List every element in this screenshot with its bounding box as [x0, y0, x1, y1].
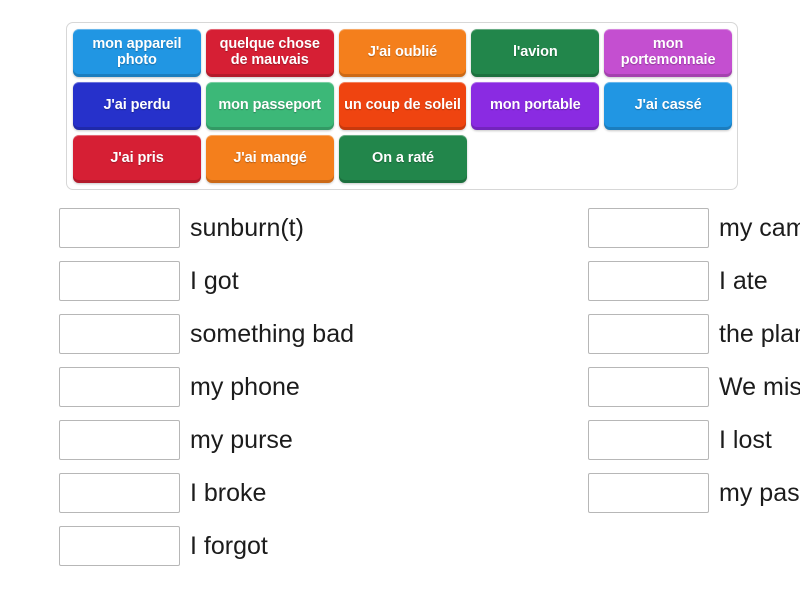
answer-label: We missed [719, 375, 800, 400]
tile-label: mon portable [490, 98, 581, 114]
tile-label: J'ai pris [110, 151, 163, 167]
drop-slot[interactable] [588, 261, 709, 301]
answer-column-left: sunburn(t) I got something bad my phone … [59, 208, 354, 566]
drop-slot[interactable] [59, 473, 180, 513]
drop-slot[interactable] [59, 526, 180, 566]
answer-row: my purse [59, 420, 354, 460]
tile-label: J'ai oublié [368, 45, 437, 61]
tile-row-1: mon appareil photo quelque chose de mauv… [73, 29, 732, 77]
answer-row: sunburn(t) [59, 208, 354, 248]
draggable-tile-jai-pris[interactable]: J'ai pris [73, 135, 201, 183]
tile-tray: mon appareil photo quelque chose de mauv… [66, 22, 738, 190]
tile-rows: mon appareil photo quelque chose de mauv… [73, 29, 732, 183]
drop-slot[interactable] [588, 208, 709, 248]
answer-column-right: my camera I ate the plane We missed I lo… [588, 208, 800, 566]
answer-label: sunburn(t) [190, 216, 304, 241]
drop-slot[interactable] [588, 314, 709, 354]
drop-slot[interactable] [588, 473, 709, 513]
tile-label: quelque chose de mauvais [210, 37, 330, 68]
tile-label: mon appareil photo [77, 37, 197, 68]
tile-label: un coup de soleil [344, 98, 461, 114]
draggable-tile-mon-appareil-photo[interactable]: mon appareil photo [73, 29, 201, 77]
answer-row: We missed [588, 367, 800, 407]
draggable-tile-mon-portemonnaie[interactable]: mon portemonnaie [604, 29, 732, 77]
answer-row: I broke [59, 473, 354, 513]
draggable-tile-on-a-rate[interactable]: On a raté [339, 135, 467, 183]
tile-label: J'ai cassé [635, 98, 702, 114]
draggable-tile-lavion[interactable]: l'avion [471, 29, 599, 77]
answer-row: something bad [59, 314, 354, 354]
answer-label: I got [190, 269, 239, 294]
answer-row: the plane [588, 314, 800, 354]
tile-label: On a raté [372, 151, 434, 167]
answer-row: I lost [588, 420, 800, 460]
drop-slot[interactable] [588, 420, 709, 460]
answer-label: I lost [719, 428, 772, 453]
answer-label: my passport [719, 481, 800, 506]
tile-row-2: J'ai perdu mon passeport un coup de sole… [73, 82, 732, 130]
answer-row: my phone [59, 367, 354, 407]
answer-row: my camera [588, 208, 800, 248]
draggable-tile-jai-casse[interactable]: J'ai cassé [604, 82, 732, 130]
answer-label: I broke [190, 481, 266, 506]
draggable-tile-mon-portable[interactable]: mon portable [471, 82, 599, 130]
answer-label: my phone [190, 375, 300, 400]
answer-row: I got [59, 261, 354, 301]
tile-label: l'avion [513, 45, 558, 61]
answer-label: I forgot [190, 534, 268, 559]
answer-label: my purse [190, 428, 293, 453]
answer-label: the plane [719, 322, 800, 347]
tile-label: J'ai mangé [233, 151, 306, 167]
tile-row-3: J'ai pris J'ai mangé On a raté [73, 135, 732, 183]
tile-label: J'ai perdu [103, 98, 170, 114]
answer-label: my camera [719, 216, 800, 241]
answer-row: I ate [588, 261, 800, 301]
drop-slot[interactable] [59, 314, 180, 354]
answer-row: my passport [588, 473, 800, 513]
answer-row: I forgot [59, 526, 354, 566]
tile-label: mon passeport [218, 98, 321, 114]
draggable-tile-mon-passeport[interactable]: mon passeport [206, 82, 334, 130]
answer-label: something bad [190, 322, 354, 347]
drop-slot[interactable] [588, 367, 709, 407]
drop-slot[interactable] [59, 420, 180, 460]
draggable-tile-jai-perdu[interactable]: J'ai perdu [73, 82, 201, 130]
match-up-activity: mon appareil photo quelque chose de mauv… [0, 0, 800, 600]
drop-slot[interactable] [59, 367, 180, 407]
answer-label: I ate [719, 269, 768, 294]
draggable-tile-quelque-chose-de-mauvais[interactable]: quelque chose de mauvais [206, 29, 334, 77]
drop-slot[interactable] [59, 208, 180, 248]
tile-label: mon portemonnaie [608, 37, 728, 68]
draggable-tile-jai-mange[interactable]: J'ai mangé [206, 135, 334, 183]
drop-slot[interactable] [59, 261, 180, 301]
draggable-tile-un-coup-de-soleil[interactable]: un coup de soleil [339, 82, 467, 130]
draggable-tile-jai-oublie[interactable]: J'ai oublié [339, 29, 467, 77]
answer-columns: sunburn(t) I got something bad my phone … [59, 208, 759, 566]
